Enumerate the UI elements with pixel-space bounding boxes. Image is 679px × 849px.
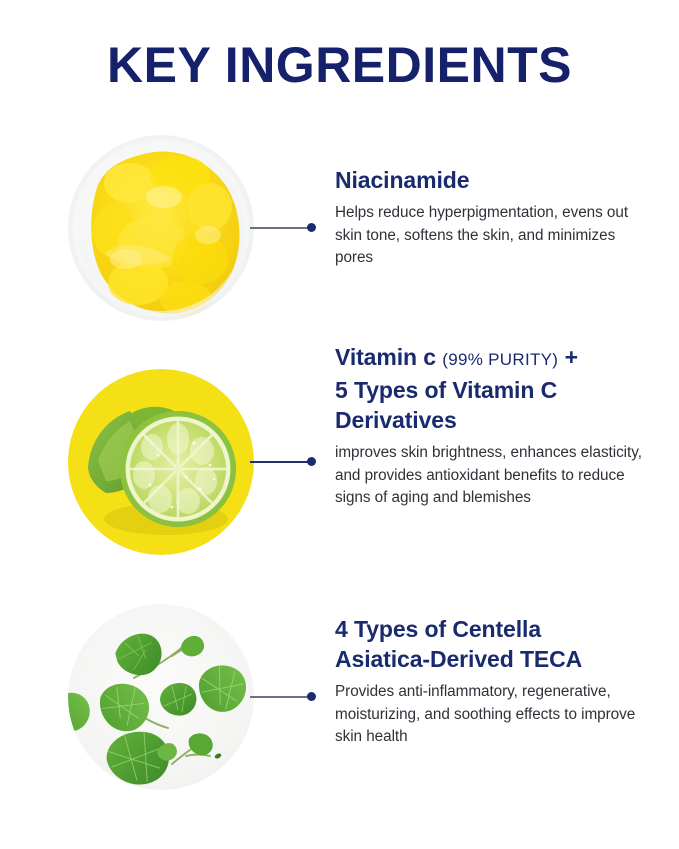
ingredient-purity-note: (99% PURITY): [442, 350, 558, 369]
ingredient-heading-main: 4 Types of Centella: [335, 616, 541, 642]
connector-dot: [307, 457, 316, 466]
connector-stroke: [250, 461, 308, 463]
ingredient-text-vitamin-c: Vitamin c (99% PURITY) + 5 Types of Vita…: [335, 342, 647, 510]
connector-stroke: [250, 227, 308, 229]
ingredient-text-teca: 4 Types of Centella Asiatica-Derived TEC…: [335, 614, 647, 749]
connector-dot: [307, 692, 316, 701]
connector-line-teca: [250, 692, 316, 702]
ingredient-text-niacinamide: Niacinamide Helps reduce hyperpigmentati…: [335, 165, 647, 270]
ingredient-description: improves skin brightness, enhances elast…: [335, 442, 647, 510]
yellow-gel-texture-circle: [68, 135, 254, 321]
ingredient-heading: 4 Types of Centella Asiatica-Derived TEC…: [335, 614, 647, 674]
connector-stroke: [250, 696, 308, 698]
ingredient-plus-symbol: +: [565, 344, 578, 370]
ingredient-heading: Niacinamide: [335, 165, 647, 195]
connector-line-niacinamide: [250, 223, 316, 233]
connector-line-vitamin-c: [250, 457, 316, 467]
ingredient-heading: Vitamin c (99% PURITY) + 5 Types of Vita…: [335, 342, 647, 435]
page-title: KEY INGREDIENTS: [0, 36, 679, 94]
ingredient-heading-line3: Derivatives: [335, 407, 457, 433]
ingredient-heading-line2: Asiatica-Derived TECA: [335, 646, 582, 672]
lime-on-yellow-circle: [68, 369, 254, 555]
connector-dot: [307, 223, 316, 232]
ingredient-heading-line2: 5 Types of Vitamin C: [335, 377, 557, 403]
centella-leaves-circle: [68, 604, 254, 790]
ingredient-heading-main: Vitamin c: [335, 344, 436, 370]
ingredient-description: Provides anti-inflammatory, regenerative…: [335, 681, 647, 749]
ingredient-description: Helps reduce hyperpigmentation, evens ou…: [335, 202, 647, 270]
